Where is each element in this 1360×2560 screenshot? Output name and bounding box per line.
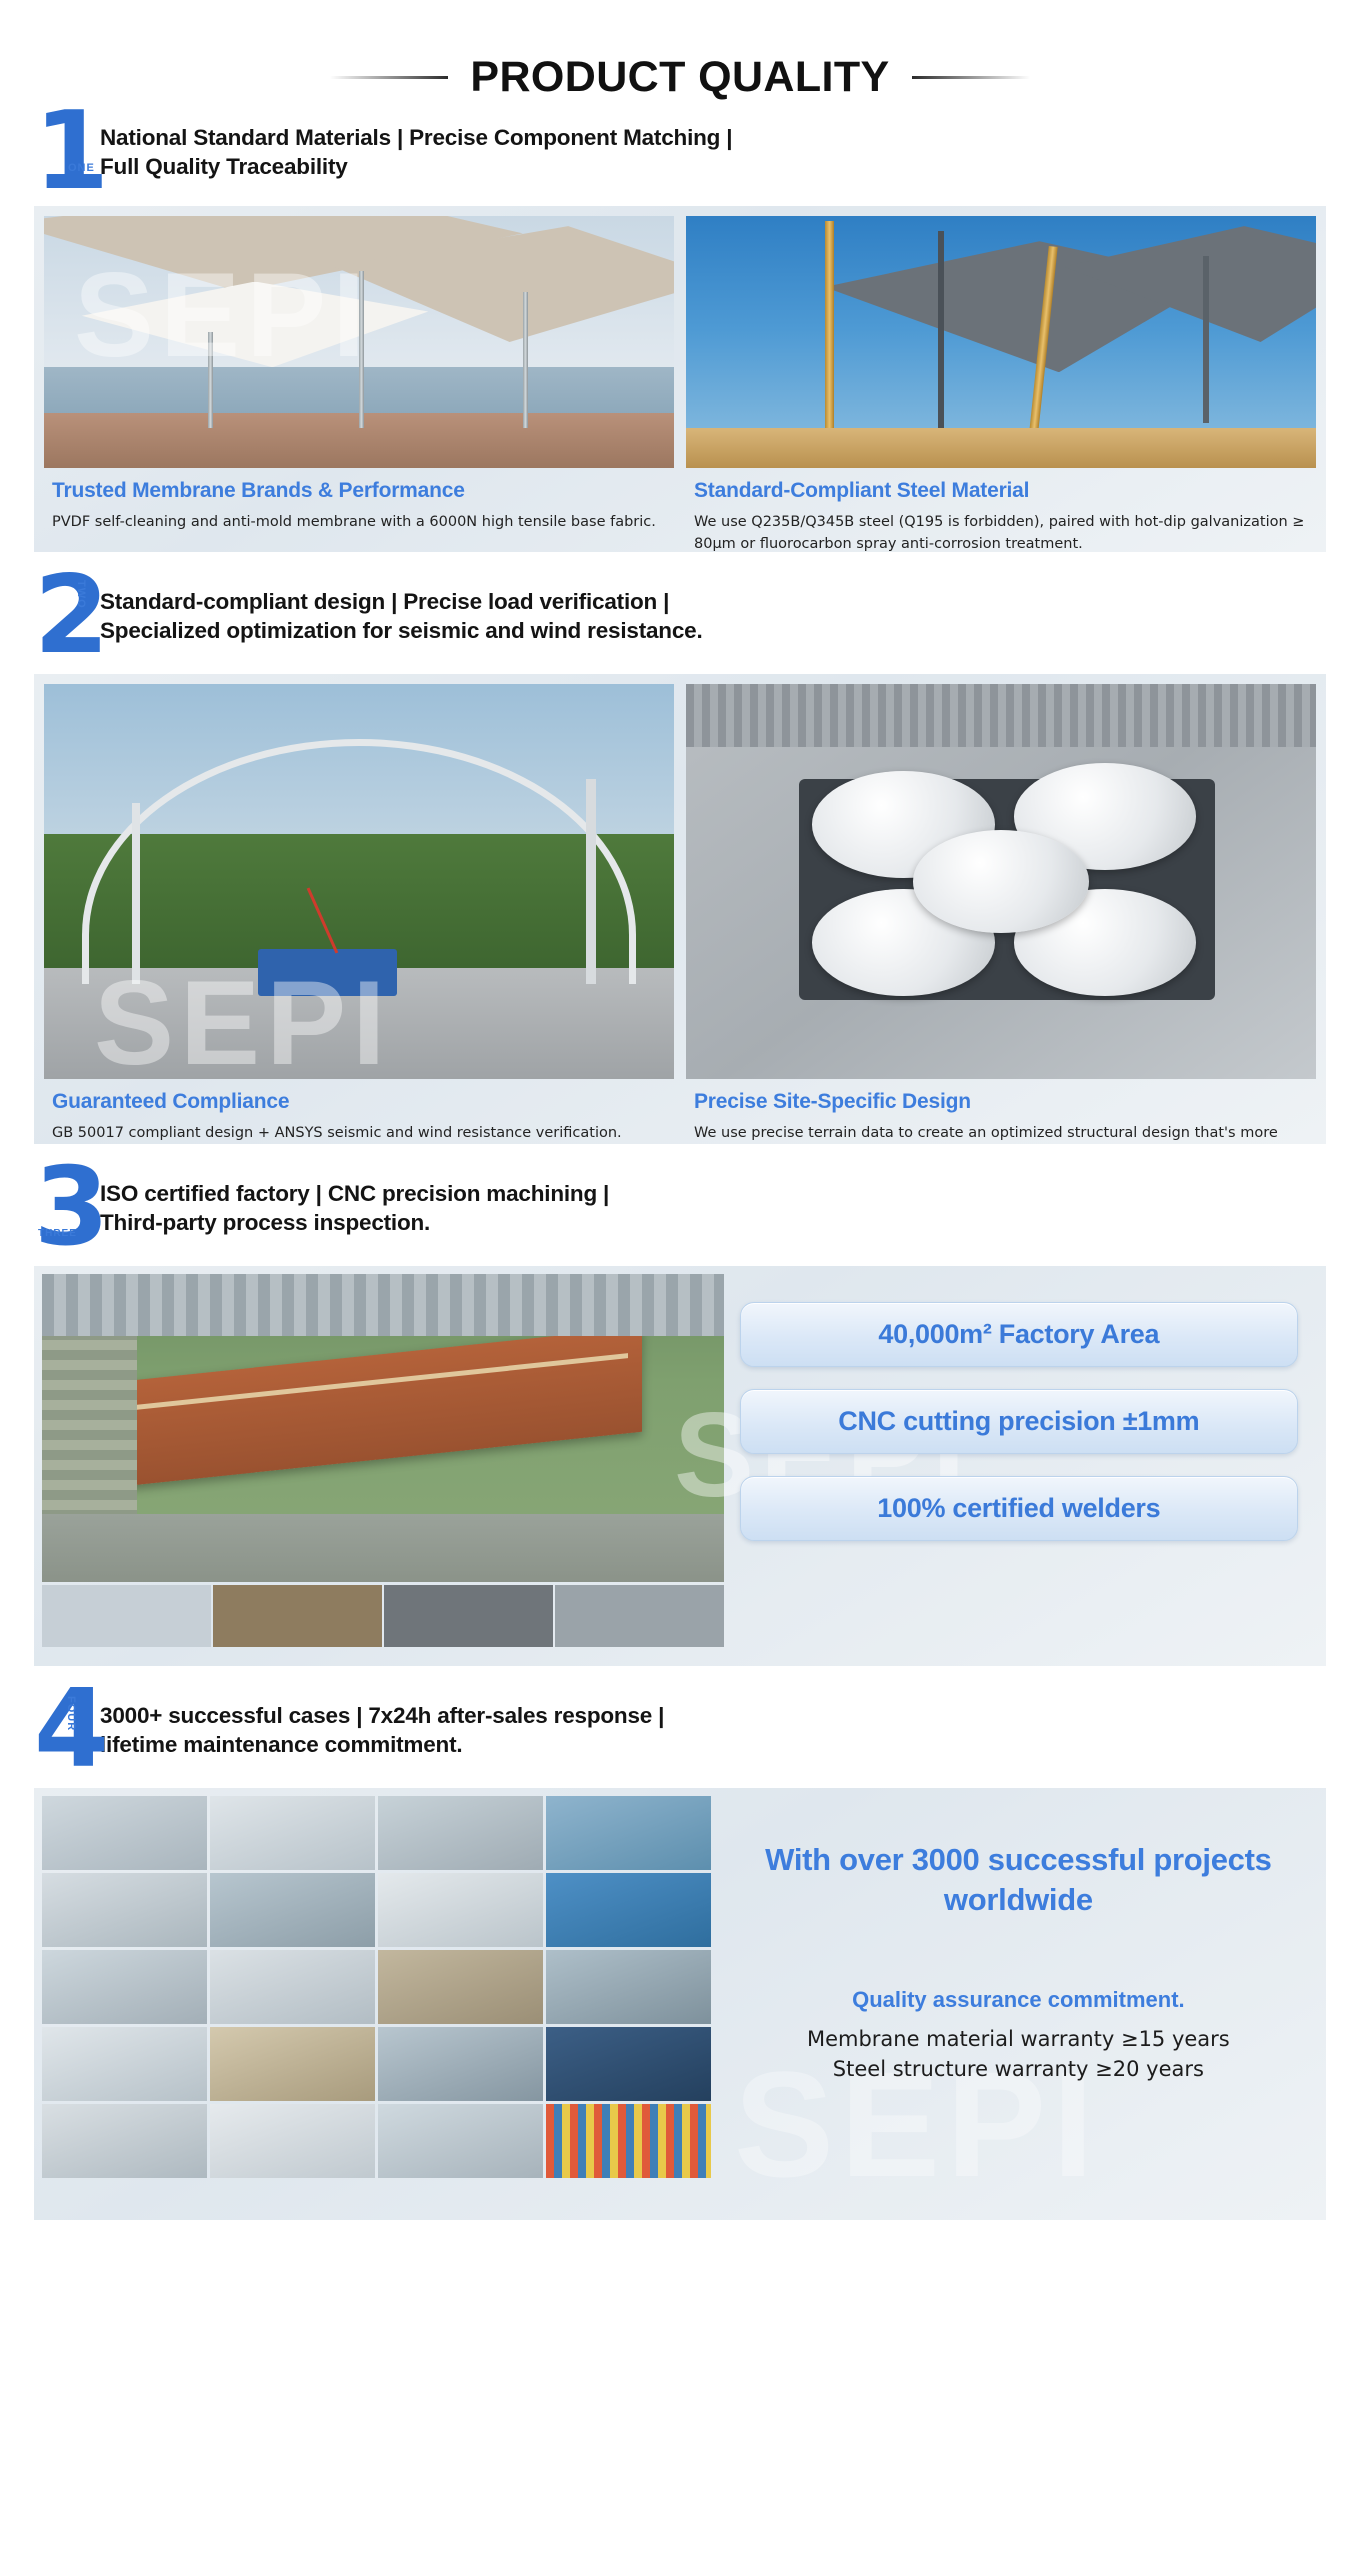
section-2-panel: Guaranteed Compliance GB 50017 compliant… <box>34 674 1326 1144</box>
case-photo <box>210 1950 375 2024</box>
section-2-heading-line1: Standard-compliant design | Precise load… <box>100 588 703 617</box>
section-1-card-1-body: PVDF self-cleaning and anti-mold membran… <box>52 511 666 533</box>
section-3-heading-line2: Third-party process inspection. <box>100 1209 609 1238</box>
crane-truck <box>258 949 397 996</box>
section-2-number-word: TWO <box>76 580 85 609</box>
section-1-card-1-title: Trusted Membrane Brands & Performance <box>52 478 666 504</box>
section-3-number-word: THREE <box>38 1230 77 1238</box>
section-1-card-2-caption: Standard-Compliant Steel Material We use… <box>686 468 1316 552</box>
pill-cnc-precision[interactable]: CNC cutting precision ±1mm <box>740 1389 1298 1454</box>
case-photo <box>378 1873 543 1947</box>
case-photo <box>546 1950 711 2024</box>
section-4-text-block: With over 3000 successful projects world… <box>719 1788 1326 2220</box>
section-2-number-digit: 2 <box>34 553 105 678</box>
section-4-subhead: Quality assurance commitment. <box>735 1987 1302 2013</box>
section-3-number-digit: 3 <box>34 1145 105 1270</box>
section-1-heading-line2: Full Quality Traceability <box>100 153 732 182</box>
case-photo <box>210 1796 375 1870</box>
section-1-card-1: Trusted Membrane Brands & Performance PV… <box>44 216 674 552</box>
section-2-card-1-title: Guaranteed Compliance <box>52 1089 666 1115</box>
section-1-card-2-body: We use Q235B/Q345B steel (Q195 is forbid… <box>694 511 1308 552</box>
section-2-card-1: Guaranteed Compliance GB 50017 compliant… <box>44 684 674 1144</box>
case-photo <box>546 1873 711 1947</box>
section-1-heading: 1 ONE National Standard Materials | Prec… <box>0 118 1360 206</box>
membrane-canopy-photo <box>44 216 674 468</box>
parking-lot <box>686 684 1316 747</box>
steel-structure-photo <box>686 216 1316 468</box>
warranty-membrane: Membrane material warranty ≥15 years <box>735 2027 1302 2051</box>
town-top <box>42 1274 724 1336</box>
case-photo <box>546 2104 711 2178</box>
spacer-3 <box>0 1666 1360 1696</box>
case-photo <box>378 2027 543 2101</box>
section-3-heading-line1: ISO certified factory | CNC precision ma… <box>100 1180 609 1209</box>
strip-photo-1 <box>42 1585 211 1647</box>
section-2-card-2-body: We use precise terrain data to create an… <box>694 1122 1308 1144</box>
case-photo <box>42 2104 207 2178</box>
case-photo <box>378 1796 543 1870</box>
case-photo <box>42 1796 207 1870</box>
section-1-heading-text: National Standard Materials | Precise Co… <box>100 118 732 182</box>
case-photo <box>546 2027 711 2101</box>
rooftop-domes-aerial-photo <box>686 684 1316 1079</box>
section-3-heading: 3 THREE ISO certified factory | CNC prec… <box>0 1174 1360 1266</box>
header-rule-left <box>330 76 448 79</box>
factory-aerial-photo <box>42 1274 724 1582</box>
pill-certified-welders[interactable]: 100% certified welders <box>740 1476 1298 1541</box>
yard <box>42 1514 724 1582</box>
section-3-pill-list: 40,000m² Factory Area CNC cutting precis… <box>732 1266 1326 1666</box>
section-3-heading-text: ISO certified factory | CNC precision ma… <box>100 1174 609 1238</box>
case-photo <box>378 2104 543 2178</box>
case-photo <box>210 2104 375 2178</box>
infographic-page: PRODUCT QUALITY 1 ONE National Standard … <box>0 0 1360 2560</box>
case-photo <box>378 1950 543 2024</box>
section-4-panel: With over 3000 successful projects world… <box>34 1788 1326 2220</box>
section-1-heading-line1: National Standard Materials | Precise Co… <box>100 124 732 153</box>
factory-photo-strip <box>42 1585 724 1647</box>
warranty-steel: Steel structure warranty ≥20 years <box>735 2057 1302 2081</box>
case-photo <box>546 1796 711 1870</box>
section-2-heading-text: Standard-compliant design | Precise load… <box>100 582 703 646</box>
section-1-number: 1 ONE <box>34 108 100 197</box>
section-4-number-word: FOUR <box>66 1696 75 1731</box>
spacer-1 <box>0 552 1360 582</box>
section-1-card-2: Standard-Compliant Steel Material We use… <box>686 216 1316 552</box>
section-4-heading: 4 FOUR 3000+ successful cases | 7x24h af… <box>0 1696 1360 1788</box>
section-1-number-word: ONE <box>68 164 95 173</box>
section-3-photo-block <box>34 1266 732 1666</box>
section-4-heading-text: 3000+ successful cases | 7x24h after-sal… <box>100 1696 664 1760</box>
section-2-card-2-caption: Precise Site-Specific Design We use prec… <box>686 1079 1316 1144</box>
section-2-number: 2 TWO <box>34 572 100 661</box>
header-rule-right <box>912 76 1030 79</box>
section-1-panel: Trusted Membrane Brands & Performance PV… <box>34 206 1326 552</box>
section-2-card-2: Precise Site-Specific Design We use prec… <box>686 684 1316 1144</box>
section-3-panel: 40,000m² Factory Area CNC cutting precis… <box>34 1266 1326 1666</box>
section-4-heading-line1: 3000+ successful cases | 7x24h after-sal… <box>100 1702 664 1731</box>
strip-photo-2 <box>213 1585 382 1647</box>
arch-truss-site-photo <box>44 684 674 1079</box>
section-1-card-1-caption: Trusted Membrane Brands & Performance PV… <box>44 468 674 533</box>
section-4-highlight: With over 3000 successful projects world… <box>735 1840 1302 1921</box>
section-1-number-digit: 1 <box>34 89 105 214</box>
section-1-card-2-title: Standard-Compliant Steel Material <box>694 478 1308 504</box>
section-2-heading-line2: Specialized optimization for seismic and… <box>100 617 703 646</box>
strip-photo-4 <box>555 1585 724 1647</box>
case-photo <box>210 1873 375 1947</box>
town-left <box>42 1336 137 1521</box>
strip-photo-3 <box>384 1585 553 1647</box>
section-4-number: 4 FOUR <box>34 1686 100 1775</box>
section-4-heading-line2: lifetime maintenance commitment. <box>100 1731 664 1760</box>
section-3-number: 3 THREE <box>34 1164 100 1253</box>
section-2-card-2-title: Precise Site-Specific Design <box>694 1089 1308 1115</box>
spacer-2 <box>0 1144 1360 1174</box>
case-photo <box>210 2027 375 2101</box>
section-2-columns: Guaranteed Compliance GB 50017 compliant… <box>34 674 1326 1144</box>
case-photo <box>42 1873 207 1947</box>
case-photo-grid <box>34 1788 719 2220</box>
section-2-heading: 2 TWO Standard-compliant design | Precis… <box>0 582 1360 674</box>
case-photo <box>42 2027 207 2101</box>
case-photo <box>42 1950 207 2024</box>
section-2-card-1-caption: Guaranteed Compliance GB 50017 compliant… <box>44 1079 674 1144</box>
pill-factory-area[interactable]: 40,000m² Factory Area <box>740 1302 1298 1367</box>
section-1-columns: Trusted Membrane Brands & Performance PV… <box>34 206 1326 552</box>
page-title: PRODUCT QUALITY <box>470 53 889 102</box>
section-2-card-1-body: GB 50017 compliant design + ANSYS seismi… <box>52 1122 666 1144</box>
page-header: PRODUCT QUALITY <box>0 0 1360 118</box>
